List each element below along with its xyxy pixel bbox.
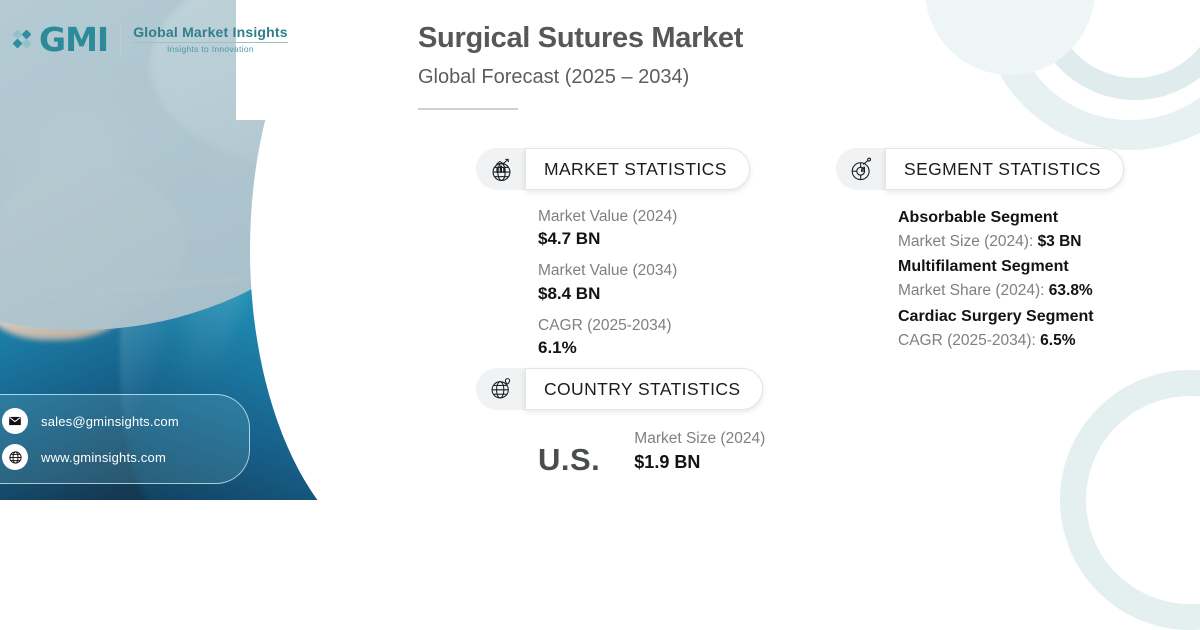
page-subtitle: Global Forecast (2025 – 2034) <box>418 66 743 89</box>
globe-bar-chart-icon <box>476 148 526 190</box>
segment-metric-line: Market Share (2024): 63.8% <box>898 279 1124 302</box>
logo-text-block: Global Market Insights Insights to Innov… <box>133 24 288 54</box>
segment-metric-label: Market Share (2024): <box>898 282 1049 299</box>
market-stat-label: Market Value (2024) <box>538 206 750 228</box>
segment-stat-item: Absorbable Segment Market Size (2024): $… <box>898 206 1124 253</box>
envelope-icon <box>2 408 28 434</box>
brand-logo[interactable]: GMI Global Market Insights Insights to I… <box>14 22 288 56</box>
country-metric-value: $1.9 BN <box>634 450 765 474</box>
logo-underline <box>133 42 288 43</box>
contact-panel: sales@gminsights.com www.gminsights.com <box>0 394 250 484</box>
contact-website: www.gminsights.com <box>41 450 166 465</box>
segment-metric-label: CAGR (2025-2034): <box>898 332 1040 349</box>
segment-statistics-section: SEGMENT STATISTICS Absorbable Segment Ma… <box>836 148 1124 354</box>
segment-statistics-pill[interactable]: SEGMENT STATISTICS <box>885 148 1124 190</box>
segment-stat-item: Cardiac Surgery Segment CAGR (2025-2034)… <box>898 305 1124 352</box>
segment-name: Cardiac Surgery Segment <box>898 305 1124 329</box>
decorative-ring-outer <box>980 0 1200 150</box>
hero-white-mask-top <box>236 0 430 120</box>
logo-tagline: Insights to Innovation <box>167 44 254 54</box>
market-stat-label: Market Value (2034) <box>538 260 750 282</box>
segment-metric-value: 63.8% <box>1049 282 1093 299</box>
segment-stat-item: Multifilament Segment Market Share (2024… <box>898 255 1124 302</box>
title-divider <box>418 108 518 110</box>
decorative-ring-inner <box>1030 0 1200 100</box>
segment-metric-line: CAGR (2025-2034): 6.5% <box>898 329 1124 352</box>
logo-divider <box>120 22 121 56</box>
segment-statistics-label: SEGMENT STATISTICS <box>904 159 1101 180</box>
country-statistics-section: COUNTRY STATISTICS U.S. Market Size (202… <box>476 368 765 475</box>
segment-metric-value: $3 BN <box>1038 233 1082 250</box>
market-statistics-badge[interactable]: MARKET STATISTICS <box>476 148 750 190</box>
country-statistics-label: COUNTRY STATISTICS <box>544 379 740 400</box>
market-stat-value: 6.1% <box>538 337 750 360</box>
segment-metric-line: Market Size (2024): $3 BN <box>898 230 1124 253</box>
logo-diamond-icon <box>14 31 30 47</box>
donut-chart-icon <box>836 148 886 190</box>
globe-pin-icon <box>476 368 526 410</box>
market-stat-value: $8.4 BN <box>538 283 750 306</box>
market-stat-label: CAGR (2025-2034) <box>538 315 750 337</box>
segment-name: Multifilament Segment <box>898 255 1124 279</box>
decorative-ring-bottom <box>1060 370 1200 630</box>
country-metric-label: Market Size (2024) <box>634 428 765 450</box>
market-statistics-label: MARKET STATISTICS <box>544 159 727 180</box>
segment-name: Absorbable Segment <box>898 206 1124 230</box>
market-stat-item: CAGR (2025-2034) 6.1% <box>538 315 750 360</box>
market-stat-item: Market Value (2034) $8.4 BN <box>538 260 750 305</box>
contact-website-row[interactable]: www.gminsights.com <box>2 444 249 470</box>
market-stat-item: Market Value (2024) $4.7 BN <box>538 206 750 251</box>
logo-company-name: Global Market Insights <box>133 24 288 40</box>
market-statistics-list: Market Value (2024) $4.7 BN Market Value… <box>476 206 750 360</box>
contact-email: sales@gminsights.com <box>41 414 179 429</box>
contact-email-row[interactable]: sales@gminsights.com <box>2 408 249 434</box>
page-title: Surgical Sutures Market <box>418 22 743 55</box>
country-statistics-body: U.S. Market Size (2024) $1.9 BN <box>476 428 765 475</box>
country-statistics-pill[interactable]: COUNTRY STATISTICS <box>525 368 763 410</box>
market-statistics-pill[interactable]: MARKET STATISTICS <box>525 148 750 190</box>
market-statistics-section: MARKET STATISTICS Market Value (2024) $4… <box>476 148 750 369</box>
segment-statistics-badge[interactable]: SEGMENT STATISTICS <box>836 148 1124 190</box>
decorative-circle-soft <box>925 0 1095 75</box>
country-code: U.S. <box>538 444 600 475</box>
logo-gmi-mark: GMI <box>39 23 108 56</box>
segment-statistics-list: Absorbable Segment Market Size (2024): $… <box>836 206 1124 352</box>
segment-metric-label: Market Size (2024): <box>898 233 1038 250</box>
title-block: Surgical Sutures Market Global Forecast … <box>418 22 743 110</box>
market-stat-value: $4.7 BN <box>538 228 750 251</box>
globe-icon <box>2 444 28 470</box>
country-metric: Market Size (2024) $1.9 BN <box>634 428 765 475</box>
country-statistics-badge[interactable]: COUNTRY STATISTICS <box>476 368 765 410</box>
segment-metric-value: 6.5% <box>1040 332 1075 349</box>
